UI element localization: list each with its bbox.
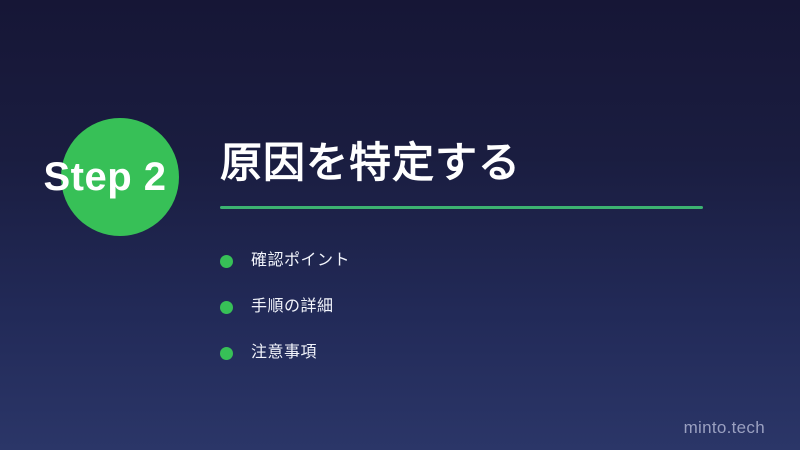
list-item-label: 確認ポイント [251, 253, 350, 269]
list-item-label: 手順の詳細 [251, 299, 334, 315]
bullet-list: 確認ポイント 手順の詳細 注意事項 [220, 238, 720, 376]
bullet-dot-icon [220, 301, 233, 314]
page-title: 原因を特定する [220, 140, 780, 186]
step-badge: Step 2 [0, 118, 210, 238]
footer-brand-label: minto.tech [684, 419, 765, 436]
title-underline-rule [220, 206, 703, 209]
list-item: 手順の詳細 [220, 284, 720, 330]
bullet-dot-icon [220, 347, 233, 360]
bullet-dot-icon [220, 255, 233, 268]
list-item-label: 注意事項 [251, 345, 317, 361]
list-item: 注意事項 [220, 330, 720, 376]
step-badge-label: Step 2 [0, 118, 210, 236]
title-block: 原因を特定する [220, 140, 780, 209]
slide-canvas: Step 2 原因を特定する 確認ポイント 手順の詳細 注意事項 minto.t… [0, 0, 800, 450]
list-item: 確認ポイント [220, 238, 720, 284]
